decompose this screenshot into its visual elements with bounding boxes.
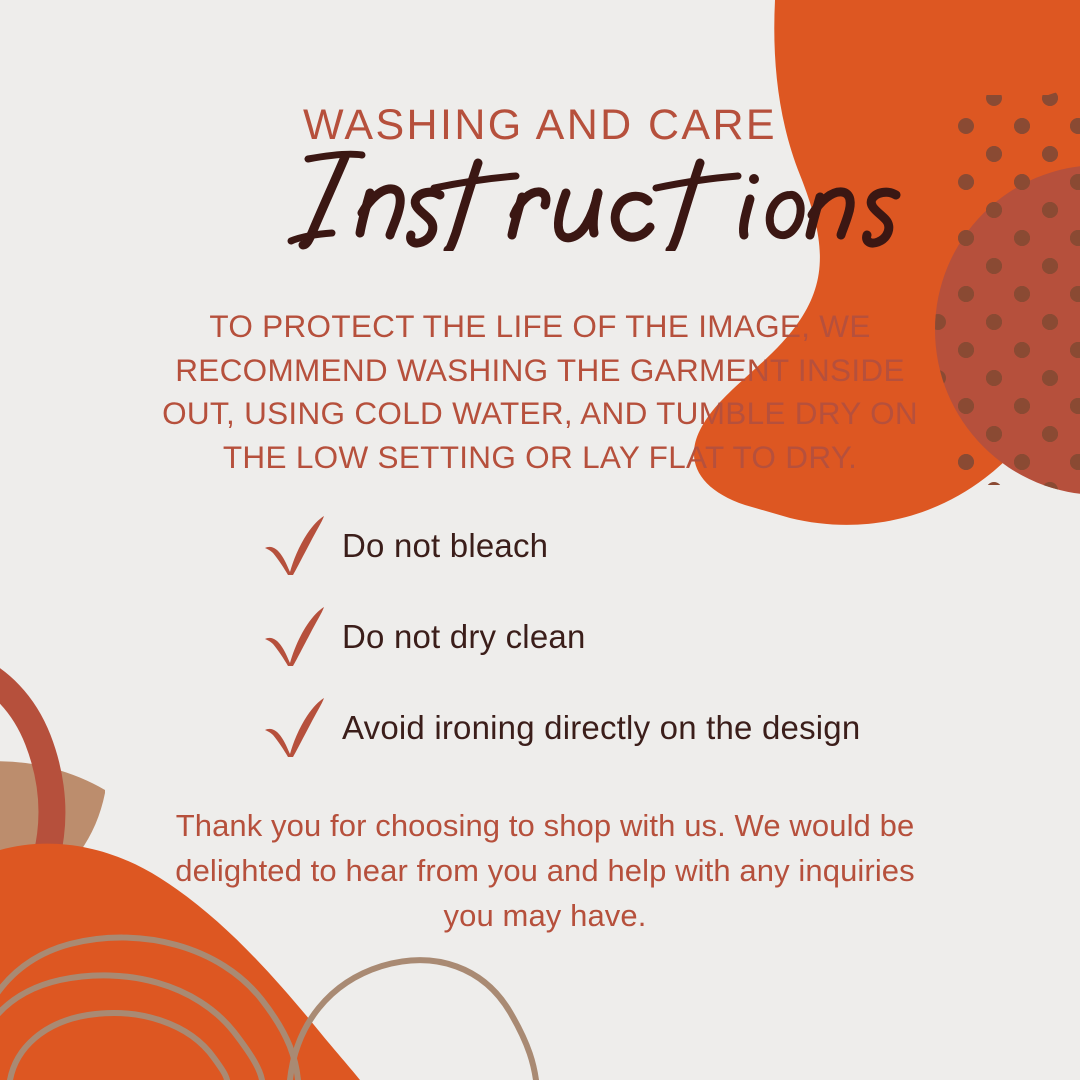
care-instructions-card: WASHING AND CARE Instructions <box>0 0 1080 1080</box>
footer-thank-you: Thank you for choosing to shop with us. … <box>150 803 940 938</box>
script-title-instructions: Instructions <box>0 141 1080 251</box>
intro-paragraph: TO PROTECT THE LIFE OF THE IMAGE, WE REC… <box>140 305 940 479</box>
check-mark-icon <box>262 606 328 668</box>
check-mark-icon <box>262 697 328 759</box>
list-item-label: Do not bleach <box>342 529 548 562</box>
card-content: WASHING AND CARE Instructions <box>0 0 1080 1080</box>
care-checklist: Do not bleach Do not dry clean Avoid iro… <box>0 500 1080 773</box>
list-item-label: Do not dry clean <box>342 620 586 653</box>
list-item: Do not dry clean <box>0 591 1080 682</box>
list-item: Avoid ironing directly on the design <box>0 682 1080 773</box>
check-mark-icon <box>262 515 328 577</box>
list-item: Do not bleach <box>0 500 1080 591</box>
header: WASHING AND CARE Instructions <box>0 104 1080 256</box>
list-item-label: Avoid ironing directly on the design <box>342 711 860 744</box>
